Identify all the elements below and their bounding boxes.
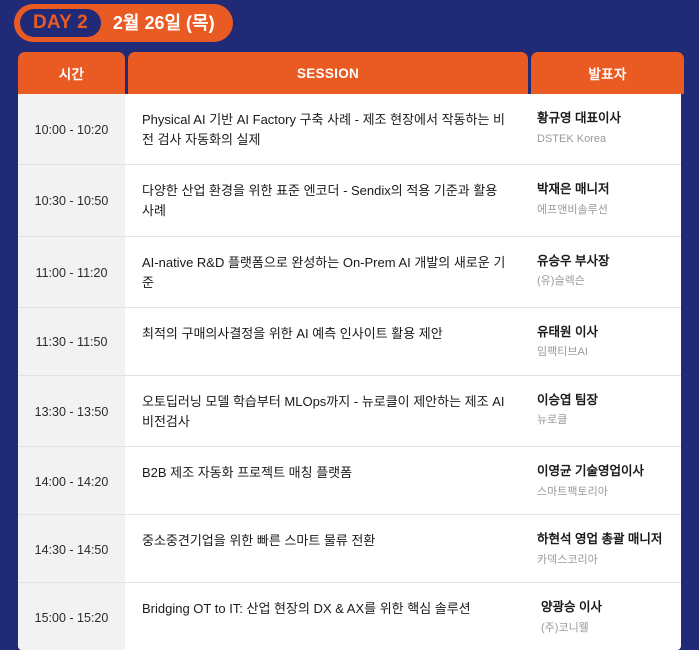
table-row: 14:00 - 14:20B2B 제조 자동화 프로젝트 매칭 플랫폼이영균 기…: [18, 446, 681, 514]
speaker-cell: 이승엽 팀장뉴로클: [525, 376, 678, 446]
speaker-name: 이영균 기술영업이사: [537, 463, 644, 481]
day-banner: DAY 2 2월 26일 (목): [14, 4, 233, 42]
session-title: Bridging OT to IT: 산업 현장의 DX & AX를 위한 핵심…: [125, 583, 525, 650]
speaker-organization: (유)슬렉슨: [537, 273, 585, 290]
session-title: 중소중견기업을 위한 빠른 스마트 물류 전환: [125, 515, 525, 582]
speaker-organization: 뉴로클: [537, 412, 567, 429]
speaker-cell: 유태원 이사임팩티브AI: [525, 308, 678, 375]
session-time: 11:30 - 11:50: [18, 308, 125, 375]
table-row: 14:30 - 14:50중소중견기업을 위한 빠른 스마트 물류 전환하현석 …: [18, 514, 681, 582]
table-header-row: 시간 SESSION 발표자: [18, 52, 681, 94]
session-time: 11:00 - 11:20: [18, 237, 125, 307]
speaker-organization: (주)코니웰: [541, 620, 589, 637]
table-body: 10:00 - 10:20Physical AI 기반 AI Factory 구…: [18, 94, 681, 650]
column-header-speaker: 발표자: [531, 52, 684, 94]
speaker-organization: 에프앤비솔루션: [537, 202, 608, 219]
speaker-cell: 황규영 대표이사DSTEK Korea: [525, 94, 678, 164]
session-title: B2B 제조 자동화 프로젝트 매칭 플랫폼: [125, 447, 525, 514]
session-time: 13:30 - 13:50: [18, 376, 125, 446]
speaker-cell: 양광승 이사(주)코니웰: [525, 583, 678, 650]
session-time: 15:00 - 15:20: [18, 583, 125, 650]
speaker-name: 하현석 영업 총괄 매니저: [537, 531, 662, 549]
session-time: 14:00 - 14:20: [18, 447, 125, 514]
table-row: 13:30 - 13:50오토딥러닝 모델 학습부터 MLOps까지 - 뉴로클…: [18, 375, 681, 446]
session-title: AI-native R&D 플랫폼으로 완성하는 On-Prem AI 개발의 …: [125, 237, 525, 307]
table-row: 11:30 - 11:50최적의 구매의사결정을 위한 AI 예측 인사이트 활…: [18, 307, 681, 375]
speaker-name: 양광승 이사: [541, 599, 602, 617]
session-time: 14:30 - 14:50: [18, 515, 125, 582]
speaker-cell: 하현석 영업 총괄 매니저카덱스코리아: [525, 515, 678, 582]
session-title: Physical AI 기반 AI Factory 구축 사례 - 제조 현장에…: [125, 94, 525, 164]
speaker-name: 박재은 매니저: [537, 181, 609, 199]
speaker-organization: DSTEK Korea: [537, 131, 606, 148]
speaker-name: 이승엽 팀장: [537, 392, 598, 410]
table-row: 15:00 - 15:20Bridging OT to IT: 산업 현장의 D…: [18, 582, 681, 650]
speaker-name: 유승우 부사장: [537, 253, 609, 271]
speaker-name: 유태원 이사: [537, 324, 598, 342]
session-title: 오토딥러닝 모델 학습부터 MLOps까지 - 뉴로클이 제안하는 제조 AI …: [125, 376, 525, 446]
speaker-cell: 유승우 부사장(유)슬렉슨: [525, 237, 678, 307]
table-row: 10:00 - 10:20Physical AI 기반 AI Factory 구…: [18, 94, 681, 164]
day-number-pill: DAY 2: [20, 9, 101, 37]
speaker-cell: 이영균 기술영업이사스마트팩토리아: [525, 447, 678, 514]
speaker-cell: 박재은 매니저에프앤비솔루션: [525, 165, 678, 235]
session-time: 10:00 - 10:20: [18, 94, 125, 164]
table-row: 11:00 - 11:20AI-native R&D 플랫폼으로 완성하는 On…: [18, 236, 681, 307]
table-row: 10:30 - 10:50다양한 산업 환경을 위한 표준 엔코더 - Send…: [18, 164, 681, 235]
speaker-name: 황규영 대표이사: [537, 110, 621, 128]
speaker-organization: 임팩티브AI: [537, 344, 588, 361]
schedule-table: 시간 SESSION 발표자 10:00 - 10:20Physical AI …: [18, 52, 681, 650]
session-title: 다양한 산업 환경을 위한 표준 엔코더 - Sendix의 적용 기준과 활용…: [125, 165, 525, 235]
speaker-organization: 스마트팩토리아: [537, 484, 608, 501]
column-header-session: SESSION: [128, 52, 528, 94]
session-title: 최적의 구매의사결정을 위한 AI 예측 인사이트 활용 제안: [125, 308, 525, 375]
day-date-label: 2월 26일 (목): [113, 14, 215, 32]
session-time: 10:30 - 10:50: [18, 165, 125, 235]
column-header-time: 시간: [18, 52, 125, 94]
speaker-organization: 카덱스코리아: [537, 552, 598, 569]
